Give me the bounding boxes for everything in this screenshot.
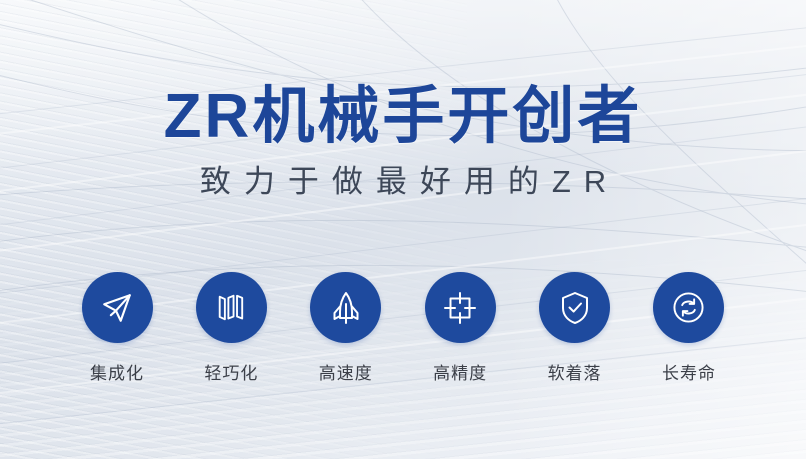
feature-label: 轻巧化	[204, 359, 258, 384]
feature-item-precision[interactable]: 高精度	[405, 272, 515, 384]
page-subtitle: 致力于做最好用的ZR	[0, 166, 806, 197]
feature-label: 高速度	[319, 359, 373, 384]
vertical-bars-icon	[215, 293, 247, 323]
crosshair-frame-icon	[444, 292, 476, 324]
feature-item-longevity[interactable]: 长寿命	[634, 272, 744, 384]
feature-icon-circle	[425, 272, 496, 343]
feature-icon-circle	[82, 272, 153, 343]
feature-item-speed[interactable]: 高速度	[291, 272, 401, 384]
feature-icon-circle	[196, 272, 267, 343]
feature-item-soft-landing[interactable]: 软着落	[520, 272, 630, 384]
background-decoration	[0, 0, 806, 459]
feature-item-lightweight[interactable]: 轻巧化	[176, 272, 286, 384]
feature-icon-circle	[539, 272, 610, 343]
refresh-cycle-icon	[672, 291, 705, 324]
feature-list: 集成化 轻巧化 高速度	[62, 272, 744, 384]
rocket-icon	[330, 291, 362, 325]
feature-label: 高精度	[433, 359, 487, 384]
feature-label: 长寿命	[662, 359, 716, 384]
feature-icon-circle	[310, 272, 381, 343]
feature-item-integration[interactable]: 集成化	[62, 272, 172, 384]
paper-plane-icon	[100, 291, 134, 325]
headline-block: ZR机械手开创者 致力于做最好用的ZR	[0, 86, 806, 197]
shield-check-icon	[559, 291, 591, 325]
feature-icon-circle	[653, 272, 724, 343]
background-arc-lines	[0, 0, 806, 459]
page-title: ZR机械手开创者	[0, 86, 806, 148]
promo-banner: ZR机械手开创者 致力于做最好用的ZR 集成化	[0, 0, 806, 459]
feature-label: 集成化	[90, 359, 144, 384]
right-sheen	[500, 0, 806, 459]
left-diagonal-streaks	[0, 0, 467, 459]
feature-label: 软着落	[548, 359, 602, 384]
